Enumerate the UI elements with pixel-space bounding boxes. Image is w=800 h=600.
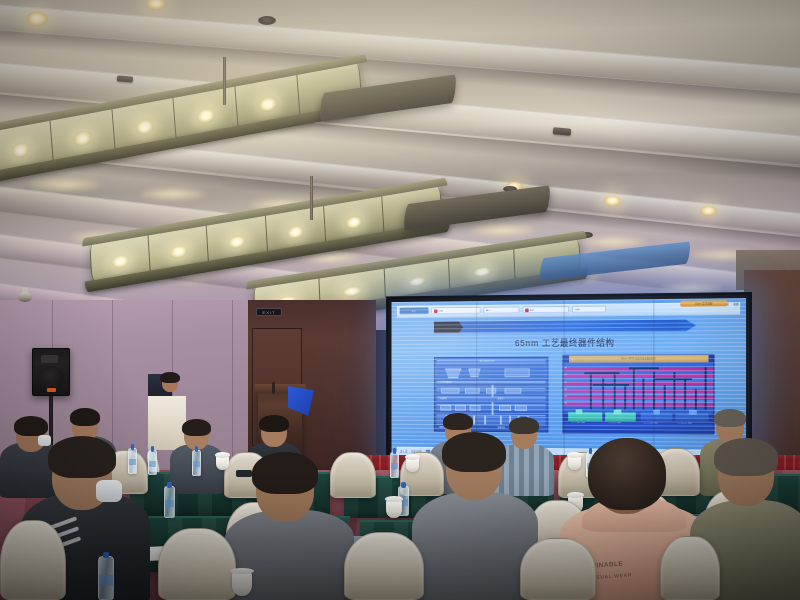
- chair: [0, 520, 66, 600]
- ppt-chip-1[interactable]: 开始: [438, 310, 442, 312]
- ceiling: [0, 0, 800, 330]
- ceiling-downlight: [146, 0, 166, 10]
- ppt-chip-3[interactable]: 设计: [530, 309, 534, 311]
- ppt-file-tab[interactable]: 文件: [412, 310, 416, 312]
- exit-sign: EXIT: [256, 308, 282, 316]
- slide-banner: [434, 319, 696, 333]
- attendee-hair: [182, 419, 211, 436]
- conference-room-photo: EXIT 文件 开始 插入 设计: [0, 0, 800, 600]
- speaker-cone: [38, 366, 65, 390]
- water-bottle: [98, 556, 114, 600]
- chair: [344, 532, 424, 600]
- security-camera-icon: [18, 292, 32, 302]
- attendee-hair: [714, 438, 778, 476]
- ppt-chip-icon: [525, 308, 529, 312]
- attendee-hair: [714, 409, 746, 427]
- ceiling-downlight: [604, 196, 621, 206]
- exit-sign-label: EXIT: [263, 310, 276, 315]
- face-mask: [96, 480, 122, 502]
- ceiling-downlight: [700, 206, 717, 216]
- pendant-suspension-rod: [223, 57, 226, 105]
- metal-stack-header: 65nm CMOS 后段互连金属层结构: [569, 355, 708, 362]
- attendee-hair: [443, 413, 473, 430]
- attendee-hair: [259, 415, 289, 432]
- water-bottle: [192, 450, 201, 476]
- diagram-row-label: 源漏注入: [497, 398, 504, 400]
- diagram-caption: 器件剖面结构示意: [479, 361, 494, 363]
- status-page-number: 第 1 页: [400, 450, 407, 454]
- ceiling-vent: [553, 127, 572, 136]
- presenter-hair: [160, 372, 180, 383]
- ppt-chip-4[interactable]: 切换: [575, 308, 580, 310]
- slide-corner-pill-label: 65nm 工艺流程: [695, 301, 712, 305]
- slide-title: 65nm 工艺最终器件结构: [391, 335, 746, 350]
- speaker-horn: [41, 355, 58, 362]
- attendee-hair: [252, 452, 318, 494]
- ppt-tab-view[interactable]: 视图: [733, 302, 738, 306]
- ppt-chip-2[interactable]: 插入: [486, 309, 490, 311]
- metal-layer-label: M7: [564, 376, 566, 378]
- metal-layer-label: M3: [564, 404, 566, 406]
- teacup: [232, 572, 252, 596]
- pendant-suspension-rod: [310, 176, 313, 220]
- slide-corner-pill: 65nm 工艺流程: [680, 300, 727, 306]
- attendee-hair: [70, 408, 100, 426]
- metal-stack-diagram: 65nm CMOS 后段互连金属层结构 M8 M7 M6: [563, 354, 715, 435]
- metal-layer-label: M4: [564, 396, 566, 398]
- attendee-hair: [442, 432, 506, 472]
- teacup: [386, 500, 402, 518]
- metal-layer-label: M8: [564, 368, 566, 370]
- ppt-chip-icon: [434, 309, 438, 313]
- attendee-hair: [48, 436, 116, 478]
- attendee-hair: [588, 438, 666, 510]
- water-bottle: [390, 452, 399, 478]
- ceiling-downlight-off: [258, 16, 276, 25]
- chair: [158, 528, 236, 600]
- chair: [660, 536, 720, 600]
- substrate-layer: [564, 423, 714, 434]
- podium-microphone-icon: [272, 382, 275, 394]
- metal-layer-label: M6: [564, 383, 566, 385]
- slide-banner-cap: [434, 321, 463, 333]
- chair: [520, 538, 596, 600]
- metal-stack-header-label: 65nm CMOS 后段互连金属层结构: [621, 356, 656, 360]
- metal-layer-label: M5: [564, 390, 566, 392]
- water-bottle: [164, 486, 175, 518]
- attendee-hair: [14, 416, 48, 436]
- ceiling-downlight: [26, 12, 48, 26]
- diagram-row-label: 多晶硅栅: [439, 398, 446, 400]
- pa-speaker: [32, 348, 70, 396]
- jbl-logo: [47, 388, 56, 392]
- diagram-row-label: STI 浅沟槽隔离: [439, 382, 451, 384]
